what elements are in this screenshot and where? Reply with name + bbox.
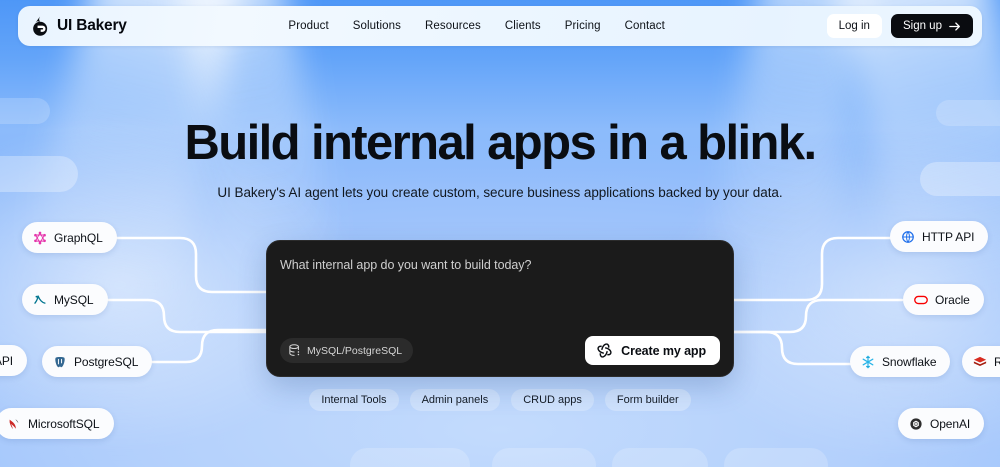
datasource-label: MySQL/PostgreSQL: [307, 345, 402, 357]
integration-label: API: [0, 354, 13, 368]
nav-link-clients[interactable]: Clients: [505, 20, 541, 32]
suggestion-tags: Internal Tools Admin panels CRUD apps Fo…: [0, 389, 1000, 411]
prompt-placeholder-text[interactable]: What internal app do you want to build t…: [280, 258, 531, 272]
integration-label: Re: [994, 355, 1000, 369]
nav-actions: Log in Sign up: [827, 14, 973, 38]
integration-pill-openai[interactable]: OpenAI: [898, 408, 984, 439]
integration-pill-redis[interactable]: Re: [962, 346, 1000, 377]
nav-link-pricing[interactable]: Pricing: [565, 20, 601, 32]
nav-link-resources[interactable]: Resources: [425, 20, 481, 32]
bakery-logo-icon: [31, 16, 50, 37]
signup-button[interactable]: Sign up: [891, 14, 973, 38]
nav-links: Product Solutions Resources Clients Pric…: [288, 20, 665, 32]
integration-label: MySQL: [54, 293, 94, 307]
integration-pill-snowflake[interactable]: Snowflake: [850, 346, 950, 377]
tag-crud-apps[interactable]: CRUD apps: [511, 389, 594, 411]
integration-pill-postgresql[interactable]: PostgreSQL: [42, 346, 152, 377]
postgresql-icon: [53, 355, 67, 369]
tag-admin-panels[interactable]: Admin panels: [410, 389, 501, 411]
wire-graphql: [112, 238, 266, 292]
arrow-right-icon: [949, 21, 961, 32]
hero-subtitle: UI Bakery's AI agent lets you create cus…: [0, 185, 1000, 200]
integration-label: HTTP API: [922, 230, 974, 244]
hero-section: Build internal apps in a blink. UI Baker…: [0, 118, 1000, 200]
nav-link-solutions[interactable]: Solutions: [353, 20, 401, 32]
integration-label: Snowflake: [882, 355, 936, 369]
nav-link-contact[interactable]: Contact: [625, 20, 665, 32]
integration-pill-graphql[interactable]: GraphQL: [22, 222, 117, 253]
wire-http-api: [734, 238, 892, 300]
mysql-icon: [33, 293, 47, 307]
create-my-app-label: Create my app: [621, 344, 706, 358]
integration-label: GraphQL: [54, 231, 103, 245]
navbar-container: UI Bakery Product Solutions Resources Cl…: [18, 6, 982, 46]
sparkle-atom-icon: [596, 342, 613, 359]
wire-postgres: [150, 330, 266, 362]
integration-pill-oracle[interactable]: Oracle: [903, 284, 984, 315]
signup-label: Sign up: [903, 20, 942, 32]
nav-link-product[interactable]: Product: [288, 20, 328, 32]
integration-label: OpenAI: [930, 417, 970, 431]
integration-pill-http-api[interactable]: HTTP API: [890, 221, 988, 252]
integration-pill-mysql[interactable]: MySQL: [22, 284, 108, 315]
integration-label: Oracle: [935, 293, 970, 307]
tag-form-builder[interactable]: Form builder: [605, 389, 691, 411]
brand-logo[interactable]: UI Bakery: [31, 16, 127, 37]
integration-pill-microsoftsql[interactable]: MicrosoftSQL: [0, 408, 114, 439]
navbar: UI Bakery Product Solutions Resources Cl…: [18, 6, 982, 46]
wire-mysql: [95, 300, 266, 332]
login-button[interactable]: Log in: [827, 14, 882, 38]
create-my-app-button[interactable]: Create my app: [585, 336, 720, 365]
database-icon: [289, 344, 301, 357]
wire-oracle: [734, 300, 902, 332]
integration-label: MicrosoftSQL: [28, 417, 100, 431]
snowflake-icon: [861, 355, 875, 369]
page-title: Build internal apps in a blink.: [0, 118, 1000, 170]
integration-label: PostgreSQL: [74, 355, 138, 369]
datasource-selector[interactable]: MySQL/PostgreSQL: [280, 338, 413, 363]
redis-icon: [973, 355, 987, 369]
openai-icon: [909, 417, 923, 431]
brand-name: UI Bakery: [57, 17, 127, 35]
microsoftsql-icon: [7, 417, 21, 431]
http-api-icon: [901, 230, 915, 244]
prompt-card[interactable]: What internal app do you want to build t…: [266, 240, 734, 377]
wire-snowflake: [734, 332, 852, 364]
graphql-icon: [33, 231, 47, 245]
tag-internal-tools[interactable]: Internal Tools: [309, 389, 398, 411]
oracle-icon: [914, 293, 928, 307]
